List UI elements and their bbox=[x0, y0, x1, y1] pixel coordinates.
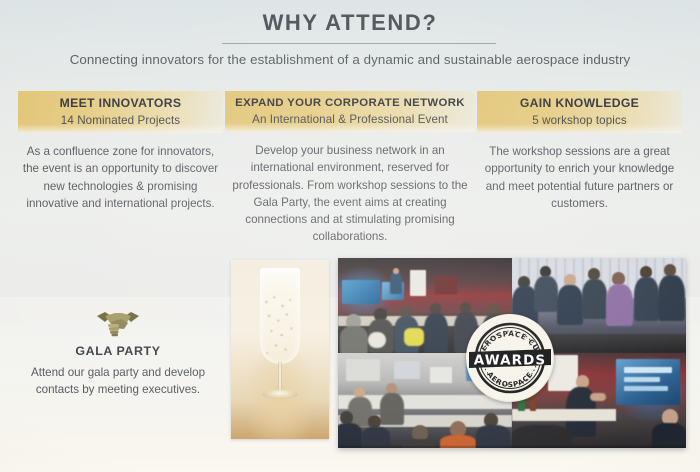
awards-badge: AEROSPACE CUP AEROSPACE AWARDS bbox=[466, 314, 554, 402]
column-heading: MEET INNOVATORS bbox=[22, 96, 219, 111]
page-subtitle: Connecting innovators for the establishm… bbox=[0, 52, 700, 67]
champagne-glass-shape bbox=[254, 268, 306, 403]
column-subheading: An International & Professional Event bbox=[229, 113, 471, 126]
gala-party-block: GALA PARTY Attend our gala party and dev… bbox=[18, 305, 218, 399]
column-body-text: As a confluence zone for innovators, the… bbox=[18, 143, 223, 212]
page-title: WHY ATTEND? bbox=[0, 10, 700, 36]
gala-party-body: Attend our gala party and develop contac… bbox=[18, 364, 218, 399]
gold-header-box: MEET INNOVATORS 14 Nominated Projects bbox=[18, 91, 223, 133]
title-divider bbox=[222, 43, 496, 44]
feature-columns: MEET INNOVATORS 14 Nominated Projects As… bbox=[0, 91, 700, 245]
champagne-glass-photo bbox=[231, 260, 329, 439]
gold-header-box: EXPAND YOUR CORPORATE NETWORK An Interna… bbox=[225, 91, 475, 132]
handshake-icon bbox=[18, 305, 218, 339]
column-heading: GAIN KNOWLEDGE bbox=[481, 96, 678, 111]
feature-column-expand-network: EXPAND YOUR CORPORATE NETWORK An Interna… bbox=[225, 91, 475, 245]
column-body-text: The workshop sessions are a great opport… bbox=[477, 143, 682, 212]
column-body-text: Develop your business network in an inte… bbox=[225, 142, 475, 245]
gala-party-title: GALA PARTY bbox=[18, 344, 218, 358]
slide-canvas: WHY ATTEND? Connecting innovators for th… bbox=[0, 0, 700, 472]
feature-column-meet-innovators: MEET INNOVATORS 14 Nominated Projects As… bbox=[18, 91, 223, 245]
glass-bubbles bbox=[263, 294, 297, 360]
glass-stem bbox=[278, 362, 282, 392]
feature-column-gain-knowledge: GAIN KNOWLEDGE 5 workshop topics The wor… bbox=[477, 91, 682, 245]
column-subheading: 14 Nominated Projects bbox=[22, 114, 219, 127]
gold-header-box: GAIN KNOWLEDGE 5 workshop topics bbox=[477, 91, 682, 133]
badge-ribbon-text: AWARDS bbox=[474, 353, 547, 369]
column-heading: EXPAND YOUR CORPORATE NETWORK bbox=[229, 96, 471, 110]
glass-foot bbox=[262, 390, 298, 399]
column-subheading: 5 workshop topics bbox=[481, 114, 678, 127]
